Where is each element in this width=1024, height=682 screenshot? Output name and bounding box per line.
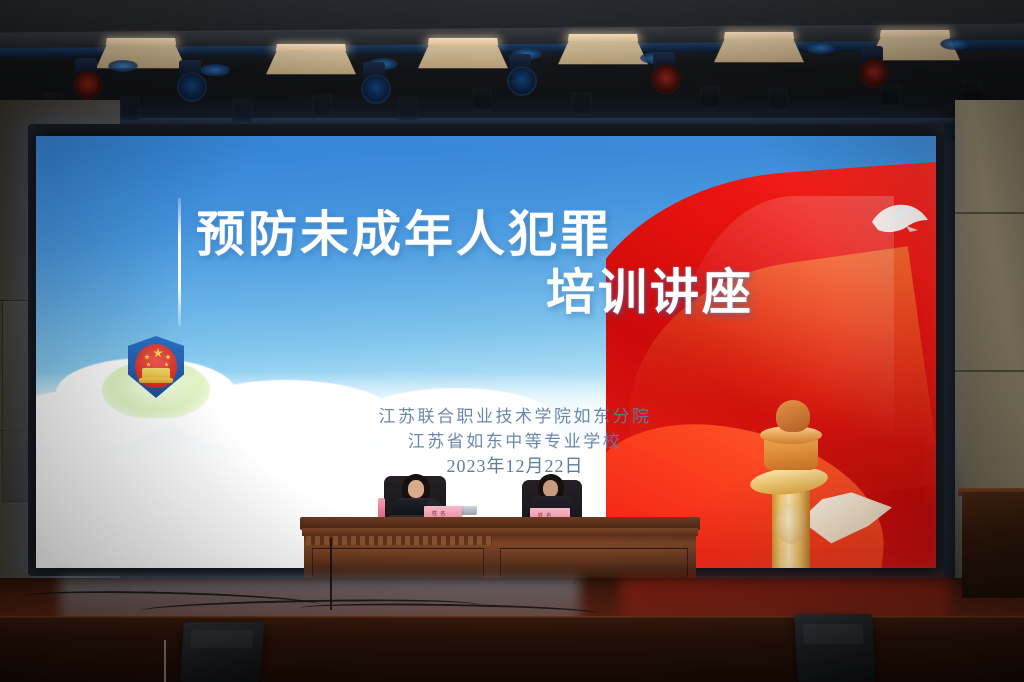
moving-head-light [176,60,204,100]
screenshot-root: 预防未成年人犯罪 培训讲座 江苏联合职业技术学院如东分院 江苏省如东中等专业学校… [0,0,1024,682]
stage-cable-vertical [330,538,332,610]
stage-light-fixture [472,88,492,112]
wall-seam [955,212,1024,214]
stage-light-fixture [572,92,592,116]
stage-light-fixture [312,94,332,118]
beam-glow [108,60,138,72]
beam-glow [200,64,230,76]
huabiao-column [748,394,830,568]
stage-light-fixture [232,98,252,122]
laptop-screen [392,500,428,516]
moving-head-light [360,62,388,102]
panel-light [264,44,358,86]
wall-seam [955,370,1024,372]
title-line-1: 预防未成年人犯罪 [196,206,776,264]
stage-light-fixture [398,96,418,120]
placard-label: 姓 名 [432,510,446,517]
floor-monitor-speaker-left [180,622,264,682]
podium [962,492,1024,598]
moving-head-light [858,46,886,86]
table-panel [500,548,688,578]
panel-light [416,38,510,80]
title-divider-rule [178,198,181,326]
stage-light-fixture [120,96,140,120]
beam-glow [806,42,836,54]
moving-head-light [506,54,534,94]
moving-head-light [650,52,678,92]
title-line-2: 培训讲座 [196,264,776,322]
table-carving [306,536,492,545]
screen-title-block: 预防未成年人犯罪 培训讲座 [196,206,776,322]
stage-light-fixture [700,86,720,110]
peace-dove-icon [866,196,932,248]
table-panel [312,548,484,578]
speaker-cable [164,640,166,682]
moving-head-light [72,58,100,98]
beam-glow [940,38,970,50]
led-screen: 预防未成年人犯罪 培训讲座 江苏联合职业技术学院如东分院 江苏省如东中等专业学校… [36,136,936,568]
subtitle-org-line-2: 江苏省如东中等专业学校 [340,429,690,454]
police-emblem-icon [102,332,210,428]
panel-light [94,38,188,80]
panel-light [556,34,650,76]
stage-light-fixture [768,88,788,112]
floor-monitor-speaker-right [794,614,876,682]
stage-light-fixture [880,84,900,108]
panel-light [712,32,806,74]
subtitle-org-line-1: 江苏联合职业技术学院如东分院 [340,404,690,429]
screen-subtitle-block: 江苏联合职业技术学院如东分院 江苏省如东中等专业学校 2023年12月22日 [340,404,690,479]
